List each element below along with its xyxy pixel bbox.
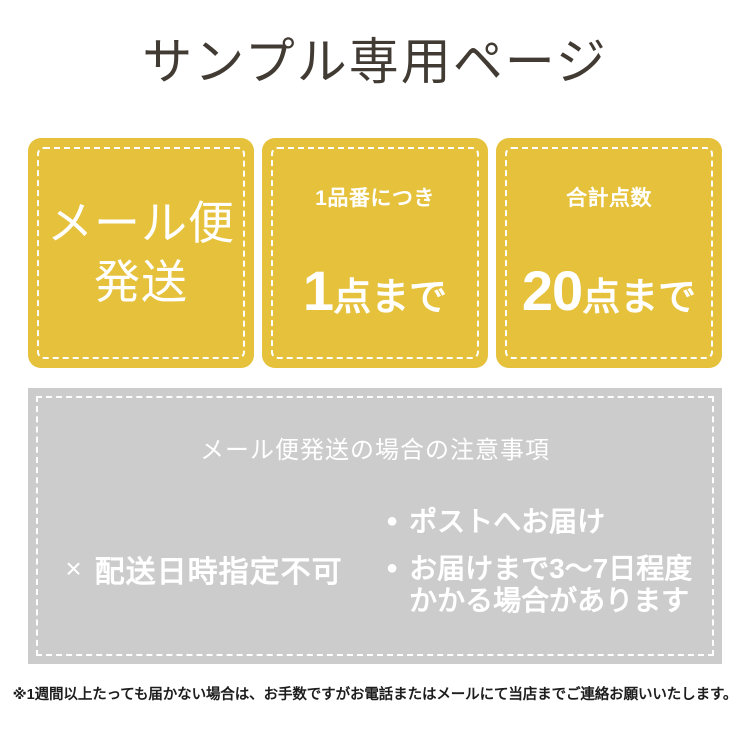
bullet-dot-icon: ●: [386, 553, 398, 583]
notice-panel-body: × 配送日時指定不可 ● ポストへお届け ● お届けまで3〜7日程度 かかる場合…: [28, 506, 722, 641]
feature-box-content: メール便 発送: [28, 194, 254, 312]
bullet-line1: お届けまで3〜7日程度: [409, 553, 692, 584]
per-item-limit-caption: 1品番につき: [262, 188, 488, 209]
bullet-line2: かかる場合があります: [409, 585, 692, 616]
total-limit-caption: 合計点数: [496, 188, 722, 209]
no-date-designation: × 配送日時指定不可: [65, 547, 342, 591]
feature-box-content: 合計点数 20 点まで: [496, 188, 722, 319]
feature-box-total-limit: 合計点数 20 点まで: [496, 138, 722, 368]
no-date-designation-label: 配送日時指定不可: [95, 547, 343, 591]
feature-box-per-item-limit: 1品番につき 1 点まで: [262, 138, 488, 368]
feature-box-content: 1品番につき 1 点まで: [262, 188, 488, 319]
page-title: サンプル専用ページ: [0, 32, 750, 92]
shipping-method-label: メール便 発送: [28, 194, 254, 312]
shipping-method-line2: 発送: [28, 253, 254, 312]
footnote: ※1週間以上たっても届かない場合は、お手数ですがお電話またはメールにて当店までご…: [0, 683, 750, 704]
cross-icon: ×: [65, 555, 82, 583]
notice-bullet-list: ● ポストへお届け ● お届けまで3〜7日程度 かかる場合があります: [380, 506, 722, 616]
per-item-limit-unit: 点まで: [333, 279, 447, 317]
total-limit-value: 20 点まで: [496, 263, 722, 319]
sample-shipping-banner: サンプル専用ページ メール便 発送 1品番につき 1 点まで: [0, 0, 750, 750]
per-item-limit-value: 1 点まで: [262, 263, 488, 319]
per-item-limit-number: 1: [303, 263, 333, 319]
bullet-text: ポストへお届け: [409, 506, 605, 537]
bullet-line1: ポストへお届け: [409, 506, 605, 537]
list-item: ● お届けまで3〜7日程度 かかる場合があります: [386, 553, 722, 616]
list-item: ● ポストへお届け: [386, 506, 722, 537]
feature-box-shipping-method: メール便 発送: [28, 138, 254, 368]
feature-box-row: メール便 発送 1品番につき 1 点まで 合計点数 20: [28, 138, 722, 368]
bullet-dot-icon: ●: [386, 506, 398, 536]
notice-panel: メール便発送の場合の注意事項 × 配送日時指定不可 ● ポストへお届け ●: [28, 388, 722, 664]
total-limit-number: 20: [522, 263, 582, 319]
notice-panel-title: メール便発送の場合の注意事項: [28, 430, 722, 465]
shipping-method-line1: メール便: [47, 197, 235, 249]
bullet-text: お届けまで3〜7日程度 かかる場合があります: [409, 553, 692, 616]
notice-restriction: × 配送日時指定不可: [28, 506, 380, 626]
total-limit-unit: 点まで: [582, 279, 696, 317]
